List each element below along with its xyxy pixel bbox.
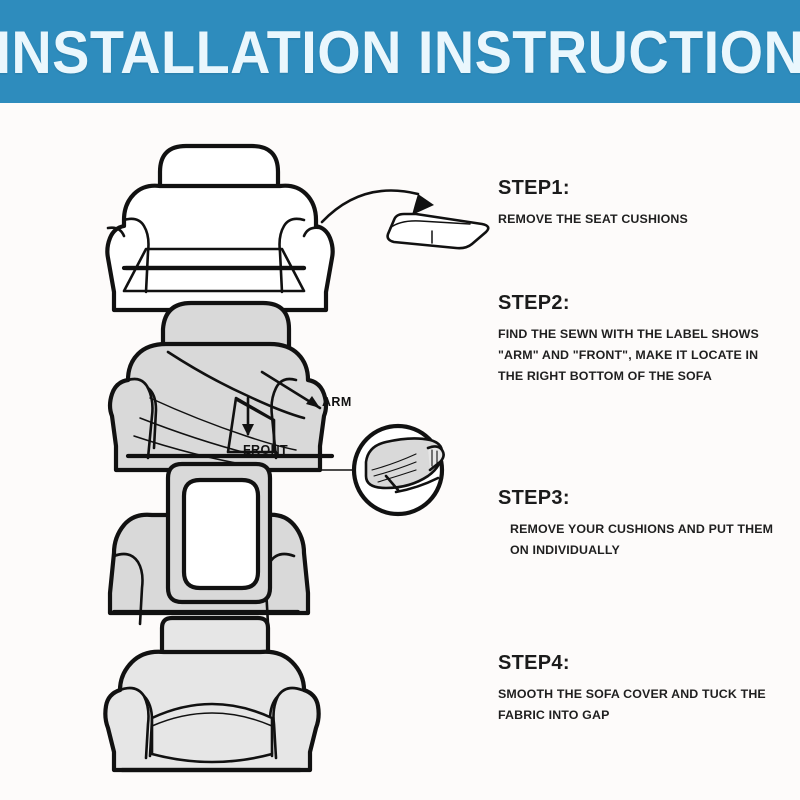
step-2-title: STEP2: — [498, 293, 798, 313]
step-3-line-1: REMOVE YOUR CUSHIONS AND PUT THEM — [504, 519, 798, 540]
step-3-description: REMOVE YOUR CUSHIONS AND PUT THEM ON IND… — [498, 519, 798, 561]
header-banner: INSTALLATION INSTRUCTION — [0, 0, 800, 103]
front-label: FRONT — [243, 443, 288, 457]
arm-label: ARM — [322, 395, 352, 409]
step-2-text-block: STEP2: FIND THE SEWN WITH THE LABEL SHOW… — [498, 293, 798, 387]
armchair-bare-icon — [107, 146, 332, 310]
removed-cushion-icon — [388, 214, 489, 248]
step-3-title: STEP3: — [498, 488, 798, 508]
step-4-line-2: FABRIC INTO GAP — [498, 705, 798, 726]
arrow-cushion-removal-icon — [322, 191, 434, 223]
instruction-poster: INSTALLATION INSTRUCTION — [0, 0, 800, 800]
step-2-line-3: THE RIGHT BOTTOM OF THE SOFA — [498, 366, 798, 387]
step-1-line-1: REMOVE THE SEAT CUSHIONS — [498, 209, 798, 230]
step-2-description: FIND THE SEWN WITH THE LABEL SHOWS "ARM"… — [498, 324, 798, 387]
armchair-draped-icon — [110, 303, 332, 470]
step-2-line-2: "ARM" AND "FRONT", MAKE IT LOCATE IN — [498, 345, 798, 366]
step-4-line-1: SMOOTH THE SOFA COVER AND TUCK THE — [498, 684, 798, 705]
step-3-text-block: STEP3: REMOVE YOUR CUSHIONS AND PUT THEM… — [498, 488, 798, 561]
step-1-text-block: STEP1: REMOVE THE SEAT CUSHIONS — [498, 178, 798, 230]
step-2-line-1: FIND THE SEWN WITH THE LABEL SHOWS — [498, 324, 798, 345]
step-1-title: STEP1: — [498, 178, 798, 198]
step-4-text-block: STEP4: SMOOTH THE SOFA COVER AND TUCK TH… — [498, 653, 798, 726]
tuck-fabric-detail-icon — [366, 438, 444, 492]
step-3-line-2: ON INDIVIDUALLY — [504, 540, 798, 561]
step-4-title: STEP4: — [498, 653, 798, 673]
armchair-finished-icon — [105, 618, 318, 770]
armchair-cushion-cover-icon — [110, 464, 308, 624]
arm-label-pointer: ARM — [262, 372, 352, 409]
page-title: INSTALLATION INSTRUCTION — [0, 23, 800, 83]
step-4-description: SMOOTH THE SOFA COVER AND TUCK THE FABRI… — [498, 684, 798, 726]
step-1-description: REMOVE THE SEAT CUSHIONS — [498, 209, 798, 230]
front-label-pointer: FRONT — [242, 398, 288, 457]
